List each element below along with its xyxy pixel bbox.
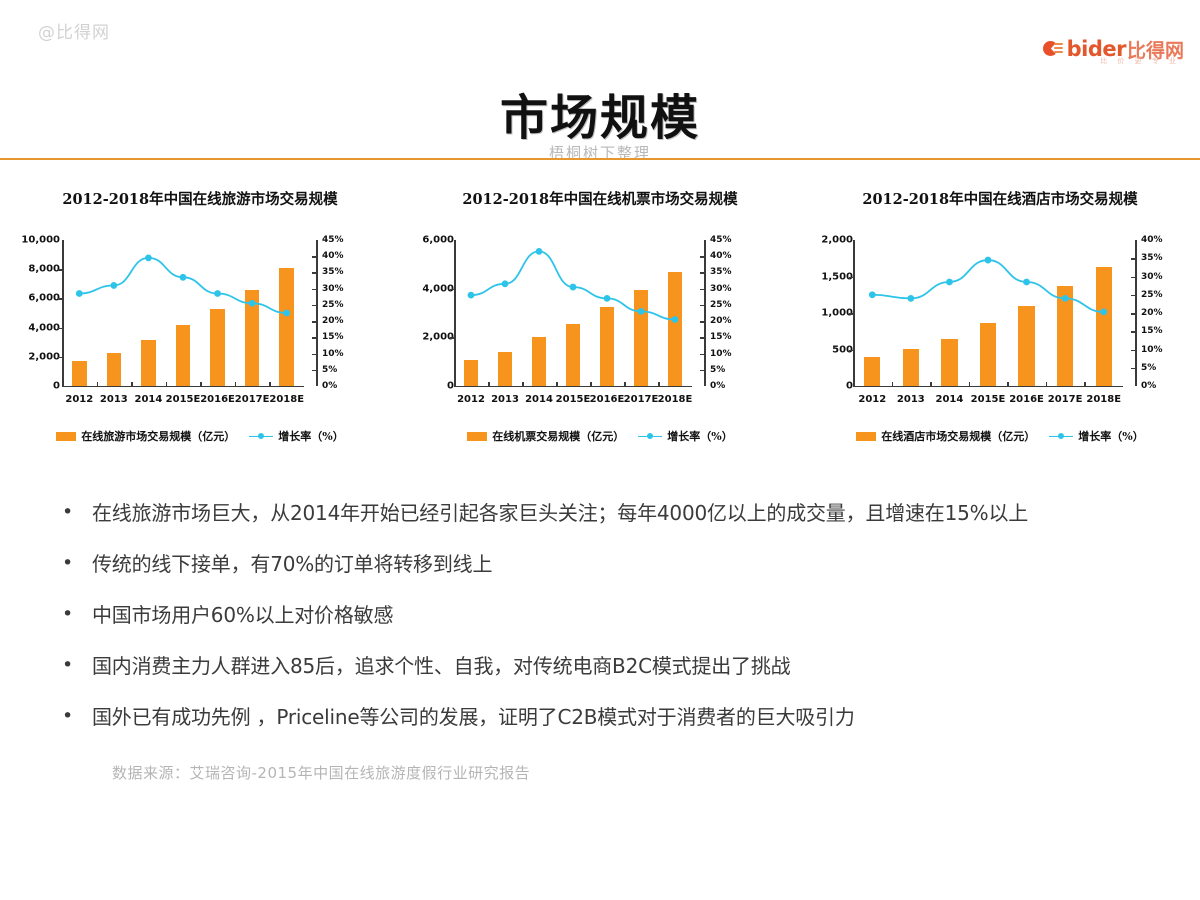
y-axis-tick-label: 45% [322, 235, 344, 245]
y-axis-tick [700, 337, 705, 339]
bullet-marker: • [62, 650, 92, 680]
legend-bar-swatch [856, 432, 876, 441]
y-axis-right-labels: 0%5%10%15%20%25%30%35%40% [1141, 240, 1181, 386]
bullet-marker: • [62, 548, 92, 578]
legend-line-swatch [249, 432, 273, 441]
chart-legend: 在线旅游市场交易规模（亿元）增长率（%） [0, 428, 400, 444]
x-axis-tick-label: 2017E [624, 394, 659, 405]
legend-item-line: 增长率（%） [638, 428, 732, 444]
y-axis-tick [1131, 350, 1136, 352]
list-item: • 在线旅游市场巨大，从2014年开始已经引起各家巨头关注；每年4000亿以上的… [62, 497, 1152, 530]
x-axis-tick-label: 2017E [235, 394, 270, 405]
x-axis-tick-label: 2015E [971, 394, 1006, 405]
legend-label: 增长率（%） [278, 428, 343, 444]
y-axis-tick-label: 45% [710, 235, 732, 245]
x-axis-labels: 2012201320142015E2016E2017E2018E [62, 394, 304, 410]
y-axis-tick-label: 15% [710, 332, 732, 342]
chart-title: 2012-2018年中国在线机票市场交易规模 [400, 188, 800, 209]
x-axis-tick-label: 2018E [1086, 394, 1121, 405]
legend-label: 在线机票交易规模（亿元） [492, 428, 624, 444]
y-axis-tick-label: 15% [1141, 326, 1163, 336]
y-axis-tick-label: 25% [1141, 290, 1163, 300]
bider-mark-icon [1043, 38, 1065, 60]
y-axis-tick-label: 0% [1141, 381, 1156, 391]
legend-label: 增长率（%） [1078, 428, 1143, 444]
legend-line-swatch [638, 432, 662, 441]
legend-item-bar: 在线机票交易规模（亿元） [467, 428, 624, 444]
y-axis-tick-label: 2,000 [821, 235, 853, 246]
list-item: • 国内消费主力人群进入85后，追求个性、自我，对传统电商B2C模式提出了挑战 [62, 650, 1152, 683]
y-axis-left-labels: 05001,0001,5002,000 [805, 240, 853, 386]
x-axis-tick-label: 2012 [65, 394, 93, 405]
y-axis-tick [1131, 277, 1136, 279]
y-axis-right-line [704, 240, 706, 386]
y-axis-tick [1131, 295, 1136, 297]
x-axis-tick-label: 2013 [897, 394, 925, 405]
y-axis-tick-label: 0 [447, 381, 454, 392]
y-axis-tick-label: 20% [322, 316, 344, 326]
y-axis-tick-label: 30% [322, 284, 344, 294]
bullet-marker: • [62, 701, 92, 731]
y-axis-tick-label: 40% [710, 251, 732, 261]
chart-plot: 02,0004,0006,0000%5%10%15%20%25%30%35%40… [408, 240, 768, 400]
x-axis-tick-label: 2015E [166, 394, 201, 405]
chart-card-online-travel: 2012-2018年中国在线旅游市场交易规模 02,0004,0006,0008… [0, 180, 400, 470]
logo-tagline: 比 价 更 专 业 [1100, 56, 1180, 66]
x-axis-tick-label: 2016E [1009, 394, 1044, 405]
bullet-marker: • [62, 599, 92, 629]
y-axis-tick-label: 0% [322, 381, 337, 391]
y-axis-right-line [316, 240, 318, 386]
y-axis-tick-label: 5% [710, 365, 725, 375]
y-axis-tick [312, 272, 317, 274]
y-axis-tick [1131, 368, 1136, 370]
x-axis-labels: 2012201320142015E2016E2017E2018E [454, 394, 692, 410]
y-axis-tick-label: 0 [846, 381, 853, 392]
y-axis-tick [312, 337, 317, 339]
x-axis-tick-label: 2016E [200, 394, 235, 405]
list-item: • 国外已有成功先例 ，Priceline等公司的发展，证明了C2B模式对于消费… [62, 701, 1152, 734]
y-axis-tick-label: 35% [1141, 253, 1163, 263]
y-axis-tick-label: 6,000 [28, 293, 60, 304]
x-axis-tick-label: 2012 [858, 394, 886, 405]
y-axis-tick-label: 30% [710, 284, 732, 294]
y-axis-tick [312, 289, 317, 291]
chart-card-online-hotel: 2012-2018年中国在线酒店市场交易规模 05001,0001,5002,0… [800, 180, 1200, 470]
x-axis-tick-label: 2014 [936, 394, 964, 405]
x-axis-tick-label: 2018E [269, 394, 304, 405]
slide-root: @比得网 bider 比得网 比 价 更 专 业 市场规模 梧桐树下整理 201… [0, 0, 1200, 900]
chart-legend: 在线机票交易规模（亿元）增长率（%） [400, 428, 800, 444]
x-axis-tick-label: 2014 [135, 394, 163, 405]
y-axis-tick-label: 5% [1141, 363, 1156, 373]
list-item: • 中国市场用户60%以上对价格敏感 [62, 599, 1152, 632]
y-axis-tick-label: 6,000 [422, 235, 454, 246]
y-axis-tick [700, 321, 705, 323]
x-axis-tick-label: 2013 [491, 394, 519, 405]
x-axis-tick-label: 2018E [658, 394, 693, 405]
y-axis-tick-label: 35% [710, 267, 732, 277]
y-axis-tick [700, 289, 705, 291]
chart-plot: 05001,0001,5002,0000%5%10%15%20%25%30%35… [805, 240, 1185, 400]
x-axis-tick-label: 2014 [525, 394, 553, 405]
x-axis-tick-label: 2015E [556, 394, 591, 405]
plot-area [853, 240, 1123, 387]
y-axis-tick [700, 272, 705, 274]
legend-item-line: 增长率（%） [1049, 428, 1143, 444]
growth-rate-line [454, 240, 692, 386]
legend-bar-swatch [467, 432, 487, 441]
legend-label: 在线酒店市场交易规模（亿元） [881, 428, 1035, 444]
y-axis-left-labels: 02,0004,0006,0008,00010,000 [8, 240, 60, 386]
y-axis-tick-label: 10% [322, 349, 344, 359]
bullet-text: 中国市场用户60%以上对价格敏感 [92, 599, 393, 632]
source-note: 数据来源：艾瑞咨询-2015年中国在线旅游度假行业研究报告 [112, 762, 530, 783]
y-axis-tick [312, 256, 317, 258]
y-axis-tick [1131, 313, 1136, 315]
y-axis-tick-label: 35% [322, 267, 344, 277]
bullet-marker: • [62, 497, 92, 527]
y-axis-tick-label: 0 [53, 381, 60, 392]
y-axis-tick-label: 25% [710, 300, 732, 310]
y-axis-tick [312, 370, 317, 372]
chart-title: 2012-2018年中国在线旅游市场交易规模 [0, 188, 400, 209]
bullet-list: • 在线旅游市场巨大，从2014年开始已经引起各家巨头关注；每年4000亿以上的… [62, 497, 1152, 752]
y-axis-tick [312, 321, 317, 323]
y-axis-tick [1131, 331, 1136, 333]
x-axis-labels: 2012201320142015E2016E2017E2018E [853, 394, 1123, 410]
y-axis-tick-label: 0% [710, 381, 725, 391]
y-axis-tick [700, 305, 705, 307]
chart-legend: 在线酒店市场交易规模（亿元）增长率（%） [800, 428, 1200, 444]
plot-area [62, 240, 304, 387]
bullet-text: 国外已有成功先例 ，Priceline等公司的发展，证明了C2B模式对于消费者的… [92, 701, 855, 734]
legend-item-bar: 在线酒店市场交易规模（亿元） [856, 428, 1035, 444]
watermark-text: @比得网 [38, 18, 110, 43]
y-axis-tick [700, 370, 705, 372]
legend-item-bar: 在线旅游市场交易规模（亿元） [56, 428, 235, 444]
chart-card-online-flight: 2012-2018年中国在线机票市场交易规模 02,0004,0006,0000… [400, 180, 800, 470]
bullet-text: 国内消费主力人群进入85后，追求个性、自我，对传统电商B2C模式提出了挑战 [92, 650, 790, 683]
bullet-text: 在线旅游市场巨大，从2014年开始已经引起各家巨头关注；每年4000亿以上的成交… [92, 497, 1028, 530]
y-axis-tick-label: 4,000 [28, 322, 60, 333]
y-axis-tick [312, 354, 317, 356]
y-axis-tick-label: 40% [322, 251, 344, 261]
y-axis-tick-label: 40% [1141, 235, 1163, 245]
legend-label: 增长率（%） [667, 428, 732, 444]
bullet-text: 传统的线下接单，有70%的订单将转移到线上 [92, 548, 492, 581]
y-axis-right-labels: 0%5%10%15%20%25%30%35%40%45% [710, 240, 750, 386]
y-axis-tick-label: 10,000 [21, 235, 60, 246]
chart-title: 2012-2018年中国在线酒店市场交易规模 [800, 188, 1200, 209]
list-item: • 传统的线下接单，有70%的订单将转移到线上 [62, 548, 1152, 581]
y-axis-tick [1131, 258, 1136, 260]
y-axis-left-labels: 02,0004,0006,000 [408, 240, 454, 386]
header-divider [0, 158, 1200, 160]
chart-plot: 02,0004,0006,0008,00010,0000%5%10%15%20%… [8, 240, 368, 400]
y-axis-tick-label: 5% [322, 365, 337, 375]
y-axis-tick-label: 15% [322, 332, 344, 342]
y-axis-tick-label: 10% [1141, 345, 1163, 355]
y-axis-right-labels: 0%5%10%15%20%25%30%35%40%45% [322, 240, 362, 386]
y-axis-tick-label: 25% [322, 300, 344, 310]
y-axis-tick [700, 256, 705, 258]
x-axis-tick-label: 2016E [590, 394, 625, 405]
y-axis-tick [700, 354, 705, 356]
x-axis-tick-label: 2012 [457, 394, 485, 405]
page-title: 市场规模 [0, 78, 1200, 148]
x-axis-tick-label: 2017E [1048, 394, 1083, 405]
legend-bar-swatch [56, 432, 76, 441]
legend-line-swatch [1049, 432, 1073, 441]
x-axis-tick-label: 2013 [100, 394, 128, 405]
charts-row: 2012-2018年中国在线旅游市场交易规模 02,0004,0006,0008… [0, 180, 1200, 470]
y-axis-tick-label: 30% [1141, 272, 1163, 282]
y-axis-tick-label: 8,000 [28, 264, 60, 275]
y-axis-tick-label: 20% [1141, 308, 1163, 318]
y-axis-tick-label: 20% [710, 316, 732, 326]
y-axis-tick [312, 305, 317, 307]
legend-label: 在线旅游市场交易规模（亿元） [81, 428, 235, 444]
legend-item-line: 增长率（%） [249, 428, 343, 444]
y-axis-tick-label: 10% [710, 349, 732, 359]
y-axis-tick-label: 2,000 [28, 351, 60, 362]
growth-rate-line [853, 240, 1123, 386]
growth-rate-line [62, 240, 304, 386]
plot-area [454, 240, 692, 387]
